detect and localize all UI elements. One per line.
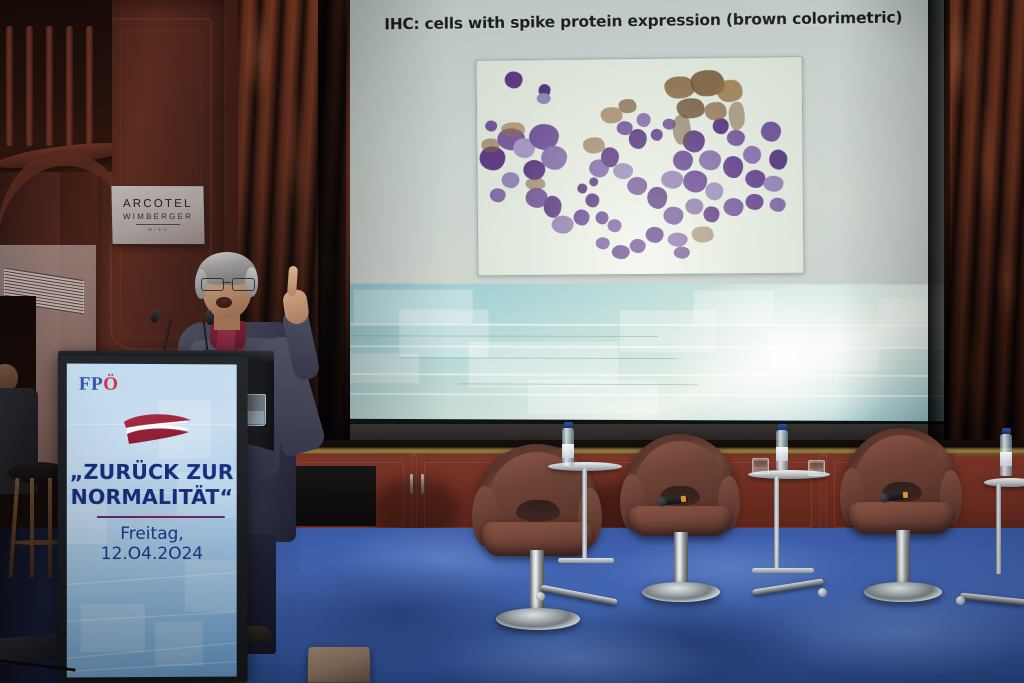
microphone-boom-knob-1 [536,592,545,601]
drinking-glass-1[interactable] [752,458,769,474]
austrian-flag-icon [119,412,197,446]
screen-vignette [340,0,948,421]
balcony-railing [0,0,112,172]
chair-right[interactable] [840,428,962,614]
side-table-left[interactable] [548,462,622,592]
hotel-sign-name: ARCOTEL [123,198,193,210]
side-table-right[interactable] [984,478,1024,598]
party-logo-primary: FP [79,374,103,395]
curtain-shadow-band-right [928,0,950,470]
hotel-sign-divider [136,224,180,225]
hotel-sign: ARCOTEL WIMBERGER WIEN [111,186,204,244]
speaker-glasses-icon [201,278,253,289]
banner-headline: „ZURÜCK ZUR NORMALITÄT“ [67,460,237,510]
drinking-glass-2[interactable] [808,460,825,476]
party-logo: FPÖ [79,374,119,396]
chair-middle[interactable] [620,434,740,614]
hotel-sign-subname: WIMBERGER [123,212,193,221]
stage-monitor-wedge [308,647,371,683]
lectern-banner-face: FPÖ „ZURÜCK ZUR NORMALITÄT“ Freitag, 12.… [67,364,237,678]
party-logo-accent: Ö [103,374,118,395]
hotel-sign-city: WIEN [148,227,169,232]
water-bottle-2[interactable] [776,430,788,470]
projection-screen-frame: IHC: cells with spike protein expression… [338,0,952,435]
water-bottle-3[interactable] [1000,434,1012,476]
banner-divider [97,516,225,518]
water-bottle-1[interactable] [562,428,574,466]
microphone-boom-knob-2 [818,588,827,597]
projection-screen: IHC: cells with spike protein expression… [340,0,948,421]
stage-curtain-right [944,0,1024,470]
banner-date: Freitag, 12.O4.2O24 [67,524,237,564]
microphone-boom-knob-3 [956,596,965,605]
stage-photo-scene: ARCOTEL WIMBERGER WIEN IHC: cells with s… [0,0,1024,683]
lectern-banner: FPÖ „ZURÜCK ZUR NORMALITÄT“ Freitag, 12.… [58,355,248,683]
